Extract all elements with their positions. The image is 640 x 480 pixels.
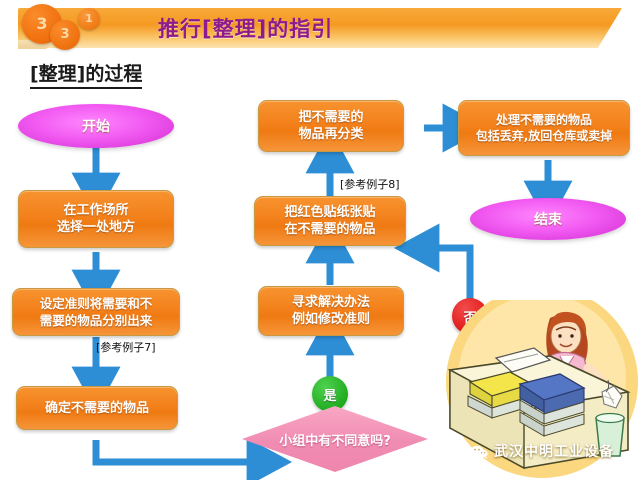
node-step-set-criteria[interactable]: 设定准则将需要和不 需要的物品分别出来 xyxy=(12,288,180,336)
note-example-8: [参考例子8] xyxy=(340,176,400,192)
node-step-identify-unneeded[interactable]: 确定不需要的物品 xyxy=(16,386,178,430)
node-line-2: 例如修改准则 xyxy=(292,311,370,328)
node-step-select-area[interactable]: 在工作场所 选择一处地方 xyxy=(18,190,174,248)
node-line-1: 寻求解决办法 xyxy=(292,294,370,311)
node-step-reclassify[interactable]: 把不需要的 物品再分类 xyxy=(258,100,404,152)
node-line-1: 把红色贴纸张贴 xyxy=(284,204,375,221)
wechat-icon xyxy=(470,444,488,458)
node-start[interactable]: 开始 xyxy=(18,104,174,148)
node-line-2: 选择一处地方 xyxy=(57,219,135,236)
watermark-text: 武汉中明工业设备 xyxy=(494,441,614,461)
node-line-2: 在不需要的物品 xyxy=(284,221,375,238)
node-step-seek-solution[interactable]: 寻求解决办法 例如修改准则 xyxy=(258,286,404,336)
node-line-1: 处理不需要的物品 xyxy=(496,112,592,128)
node-line-2: 需要的物品分别出来 xyxy=(40,312,153,329)
arrow-identify-to-decision xyxy=(96,440,262,462)
node-step-dispose[interactable]: 处理不需要的物品 包括丢弃,放回仓库或卖掉 xyxy=(458,100,630,156)
node-end[interactable]: 结束 xyxy=(470,198,626,240)
slide-canvas: 推行[整理]的指引 3 3 1 [整理]的过程 xyxy=(0,0,640,480)
node-step-red-tag[interactable]: 把红色贴纸张贴 在不需要的物品 xyxy=(254,196,406,246)
watermark: 武汉中明工业设备 xyxy=(470,441,614,461)
node-line-1: 在工作场所 xyxy=(63,202,128,219)
note-example-7: [参考例子7] xyxy=(96,339,156,355)
node-line-1: 把不需要的 xyxy=(298,109,363,126)
node-line-2: 包括丢弃,放回仓库或卖掉 xyxy=(476,128,613,144)
node-line-2: 物品再分类 xyxy=(298,126,363,143)
node-line-1: 设定准则将需要和不 xyxy=(40,295,153,312)
decision-label: 小组中有不同意吗? xyxy=(242,406,428,472)
node-decision[interactable]: 小组中有不同意吗? xyxy=(242,406,428,472)
